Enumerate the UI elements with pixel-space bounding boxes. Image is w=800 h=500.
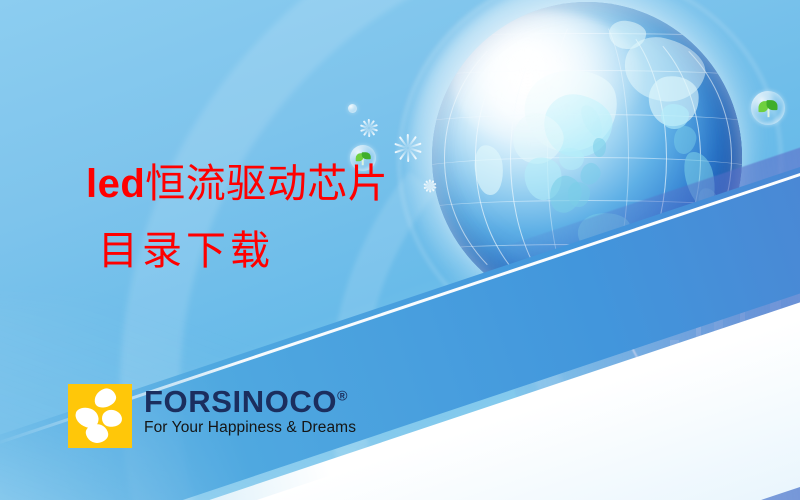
globe-rim [432, 2, 742, 312]
skyline-building [704, 346, 711, 380]
headline-line-1: led恒流驱动芯片 [86, 164, 388, 205]
skyline-building [682, 358, 693, 380]
skyline-building [652, 366, 657, 380]
bubble-sprout-bottom-icon [472, 310, 512, 350]
sparkle-flower-medium-icon [360, 119, 378, 137]
headline-line-1-cjk: 恒流驱动芯片 [145, 161, 388, 206]
headline-line-1-latin: led [86, 162, 145, 206]
skyline-building [792, 306, 799, 380]
green-sprout-icon [758, 100, 777, 118]
skyline-building [770, 284, 781, 380]
logo-text-block: FORSINOCO® For Your Happiness & Dreams [144, 384, 356, 436]
skyline-building [670, 340, 679, 380]
logo-petal [92, 386, 118, 410]
skyline-building [714, 310, 723, 380]
banner-canvas: led恒流驱动芯片 目录下载 FORSINOCO® For Your Happi… [0, 0, 800, 500]
company-logo[interactable]: FORSINOCO® For Your Happiness & Dreams [68, 384, 356, 448]
logo-company-name: FORSINOCO® [144, 386, 356, 417]
registered-trademark-icon: ® [337, 388, 348, 404]
earth-globe-icon [432, 2, 742, 312]
skyline-building [726, 336, 737, 380]
bubble-tiny-top-icon [348, 104, 357, 113]
four-petal-pinwheel-icon [68, 384, 132, 448]
skyline-building [784, 328, 789, 380]
bubble-sprout-right-icon [751, 91, 785, 125]
skyline-building [696, 322, 701, 380]
logo-company-name-text: FORSINOCO [144, 384, 337, 419]
globe-sphere [432, 2, 742, 312]
headline-line-2: 目录下载 [98, 231, 388, 272]
logo-tagline: For Your Happiness & Dreams [144, 420, 356, 436]
headline: led恒流驱动芯片 目录下载 [86, 164, 388, 272]
skyline-building [660, 354, 667, 380]
skyline-building [748, 350, 755, 380]
skyline-building [758, 318, 767, 380]
green-sprout-icon [481, 320, 503, 341]
